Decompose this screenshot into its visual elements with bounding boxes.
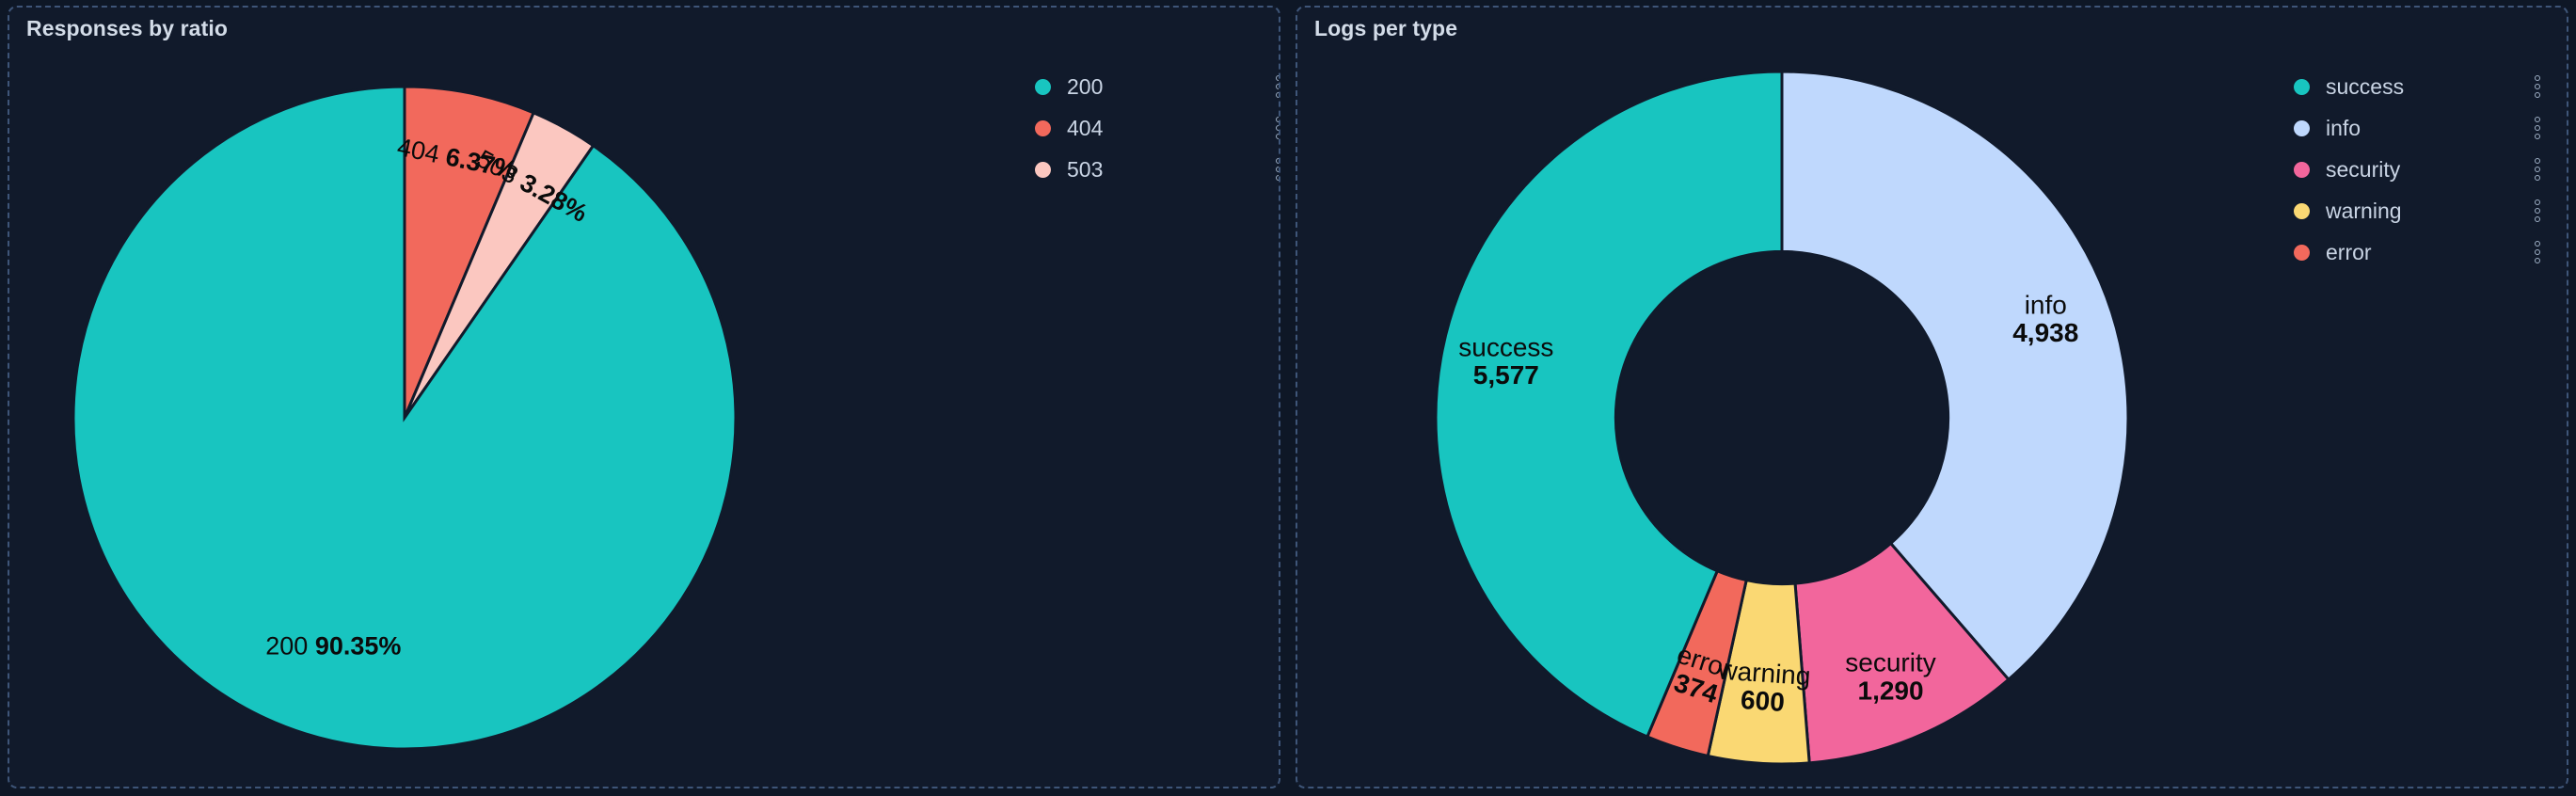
legend-item-security[interactable]: security xyxy=(2284,149,2548,190)
svg-text:200 90.35%: 200 90.35% xyxy=(265,631,401,660)
kebab-menu-icon[interactable] xyxy=(1268,72,1280,101)
kebab-menu-icon[interactable] xyxy=(1268,155,1280,183)
legend-item-label: 404 xyxy=(1067,116,1268,141)
legend-color-swatch xyxy=(1035,120,1051,136)
legend-item-label: 503 xyxy=(1067,157,1268,183)
legend-color-swatch xyxy=(1035,162,1051,178)
panel-responses-by-ratio: Responses by ratio 404 6.37%503 3.28%200… xyxy=(8,6,1280,788)
panel-body: info4,938security1,290warning600error374… xyxy=(1297,49,2567,787)
panel-body: 404 6.37%503 3.28%200 90.35% 200 404 503 xyxy=(9,49,1279,787)
legend-item-warning[interactable]: warning xyxy=(2284,190,2548,231)
donut-chart-svg: info4,938security1,290warning600error374… xyxy=(1312,46,2271,788)
legend-color-swatch xyxy=(2294,245,2310,261)
legend-color-swatch xyxy=(2294,203,2310,219)
pie-chart-responses: 404 6.37%503 3.28%200 90.35% xyxy=(9,49,1026,787)
legend-item-label: warning xyxy=(2326,199,2527,224)
slice-label-200: 200 90.35% xyxy=(265,631,401,660)
legend-item-label: security xyxy=(2326,157,2527,183)
legend-color-swatch xyxy=(2294,162,2310,178)
kebab-menu-icon[interactable] xyxy=(2527,72,2548,101)
page-title: Logs per type xyxy=(1314,16,1457,41)
panel-header: Responses by ratio xyxy=(9,8,1279,49)
legend-responses: 200 404 503 xyxy=(1026,49,1280,787)
kebab-menu-icon[interactable] xyxy=(1268,114,1280,142)
kebab-menu-icon[interactable] xyxy=(2527,114,2548,142)
legend-item-info[interactable]: info xyxy=(2284,107,2548,149)
page-title: Responses by ratio xyxy=(26,16,228,41)
pie-chart-svg: 404 6.37%503 3.28%200 90.35% xyxy=(9,51,1026,785)
svg-text:600: 600 xyxy=(1740,685,1786,717)
svg-text:success: success xyxy=(1458,332,1553,361)
legend-item-404[interactable]: 404 xyxy=(1026,107,1280,149)
legend-item-label: success xyxy=(2326,74,2527,100)
dashboard-root: Responses by ratio 404 6.37%503 3.28%200… xyxy=(0,0,2576,796)
kebab-menu-icon[interactable] xyxy=(2527,238,2548,266)
legend-item-503[interactable]: 503 xyxy=(1026,149,1280,190)
pie-slice-200[interactable] xyxy=(73,87,736,749)
legend-item-label: error xyxy=(2326,240,2527,265)
legend-item-label: 200 xyxy=(1067,74,1268,100)
legend-item-error[interactable]: error xyxy=(2284,231,2548,273)
legend-item-success[interactable]: success xyxy=(2284,66,2548,107)
legend-color-swatch xyxy=(1035,79,1051,95)
legend-item-label: info xyxy=(2326,116,2527,141)
svg-text:1,290: 1,290 xyxy=(1857,676,1923,705)
svg-text:security: security xyxy=(1845,648,1935,677)
legend-logs: success info security warning xyxy=(2284,49,2567,787)
kebab-menu-icon[interactable] xyxy=(2527,197,2548,225)
legend-color-swatch xyxy=(2294,79,2310,95)
slice-label-security: security1,290 xyxy=(1845,648,1935,706)
kebab-menu-icon[interactable] xyxy=(2527,155,2548,183)
svg-text:5,577: 5,577 xyxy=(1472,360,1538,390)
donut-chart-logs: info4,938security1,290warning600error374… xyxy=(1297,49,2284,787)
panel-header: Logs per type xyxy=(1297,8,2567,49)
panel-logs-per-type: Logs per type info4,938security1,290warn… xyxy=(1296,6,2568,788)
legend-item-200[interactable]: 200 xyxy=(1026,66,1280,107)
svg-text:info: info xyxy=(2024,290,2066,319)
svg-text:4,938: 4,938 xyxy=(2012,318,2078,347)
legend-color-swatch xyxy=(2294,120,2310,136)
